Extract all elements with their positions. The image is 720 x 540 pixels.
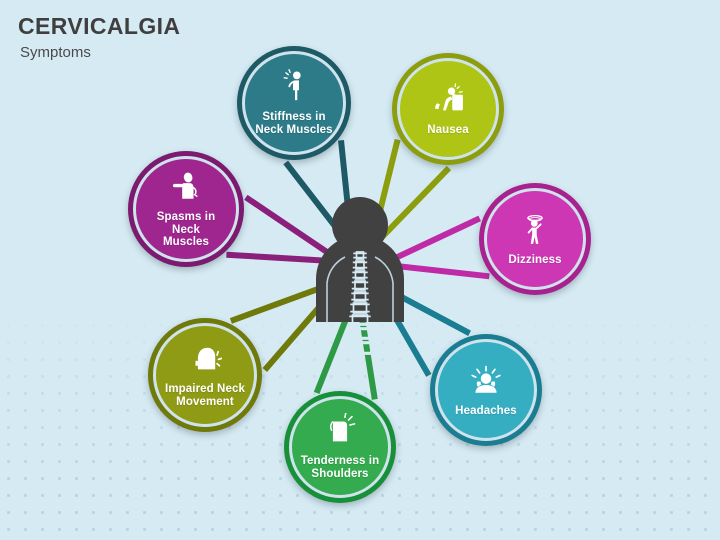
symptom-node-face-impaired: Impaired NeckMovement xyxy=(153,323,257,427)
person-stiff-neck-icon xyxy=(277,69,311,103)
symptom-node-face-spasms: Spasms in NeckMuscles xyxy=(133,156,239,262)
shoulder-pain-icon xyxy=(323,413,357,447)
head-limited-motion-icon xyxy=(188,341,222,375)
person-neck-spasm-icon xyxy=(169,169,203,203)
label-line-1: Spasms in Neck xyxy=(142,211,230,237)
symptom-node-label-spasms: Spasms in NeckMuscles xyxy=(136,211,236,250)
person-headache-icon xyxy=(469,363,503,402)
person-neck-spasm-icon xyxy=(169,169,203,208)
head-limited-motion-icon xyxy=(188,341,222,380)
person-vomiting-icon xyxy=(431,82,465,116)
label-line-2: Shoulders xyxy=(301,468,379,481)
symptom-node-face-tenderness: Tenderness inShoulders xyxy=(289,396,391,498)
symptom-node-impaired[interactable]: Impaired NeckMovement xyxy=(148,318,262,432)
symptom-node-spasms[interactable]: Spasms in NeckMuscles xyxy=(128,151,244,267)
person-headache-icon xyxy=(469,363,503,397)
symptom-node-label-tenderness: Tenderness inShoulders xyxy=(295,455,385,481)
person-dizzy-icon xyxy=(518,212,552,246)
symptom-node-label-dizziness: Dizziness xyxy=(502,254,567,267)
patient-spine-figure xyxy=(316,197,404,354)
label-line-2: Movement xyxy=(165,396,245,409)
symptom-node-headaches[interactable]: Headaches xyxy=(430,334,542,446)
label-line-1: Impaired Neck xyxy=(165,383,245,396)
label-line-1: Tenderness in xyxy=(301,455,379,468)
label-line-1: Nausea xyxy=(427,124,469,137)
person-vomiting-icon xyxy=(431,82,465,121)
symptom-node-face-nausea: Nausea xyxy=(397,58,499,160)
symptom-node-tenderness[interactable]: Tenderness inShoulders xyxy=(284,391,396,503)
symptom-node-nausea[interactable]: Nausea xyxy=(392,53,504,165)
person-stiff-neck-icon xyxy=(277,69,311,108)
symptom-node-stiffness[interactable]: Stiffness inNeck Muscles xyxy=(237,46,351,160)
label-line-2: Neck Muscles xyxy=(255,124,332,137)
symptom-node-dizziness[interactable]: Dizziness xyxy=(479,183,591,295)
symptom-node-face-stiffness: Stiffness inNeck Muscles xyxy=(242,51,346,155)
label-line-1: Stiffness in xyxy=(255,111,332,124)
label-line-1: Dizziness xyxy=(508,254,561,267)
symptom-node-face-headaches: Headaches xyxy=(435,339,537,441)
label-line-2: Muscles xyxy=(142,236,230,249)
label-line-1: Headaches xyxy=(455,405,517,418)
symptom-node-face-dizziness: Dizziness xyxy=(484,188,586,290)
symptom-node-label-nausea: Nausea xyxy=(421,124,475,137)
symptom-node-label-impaired: Impaired NeckMovement xyxy=(159,383,251,409)
symptom-node-label-stiffness: Stiffness inNeck Muscles xyxy=(249,111,338,137)
shoulder-pain-icon xyxy=(323,413,357,452)
person-dizzy-icon xyxy=(518,212,552,251)
symptom-node-label-headaches: Headaches xyxy=(449,405,523,418)
infographic-canvas: CERVICALGIA Symptoms Stiffness inNeck Mu… xyxy=(0,0,720,540)
